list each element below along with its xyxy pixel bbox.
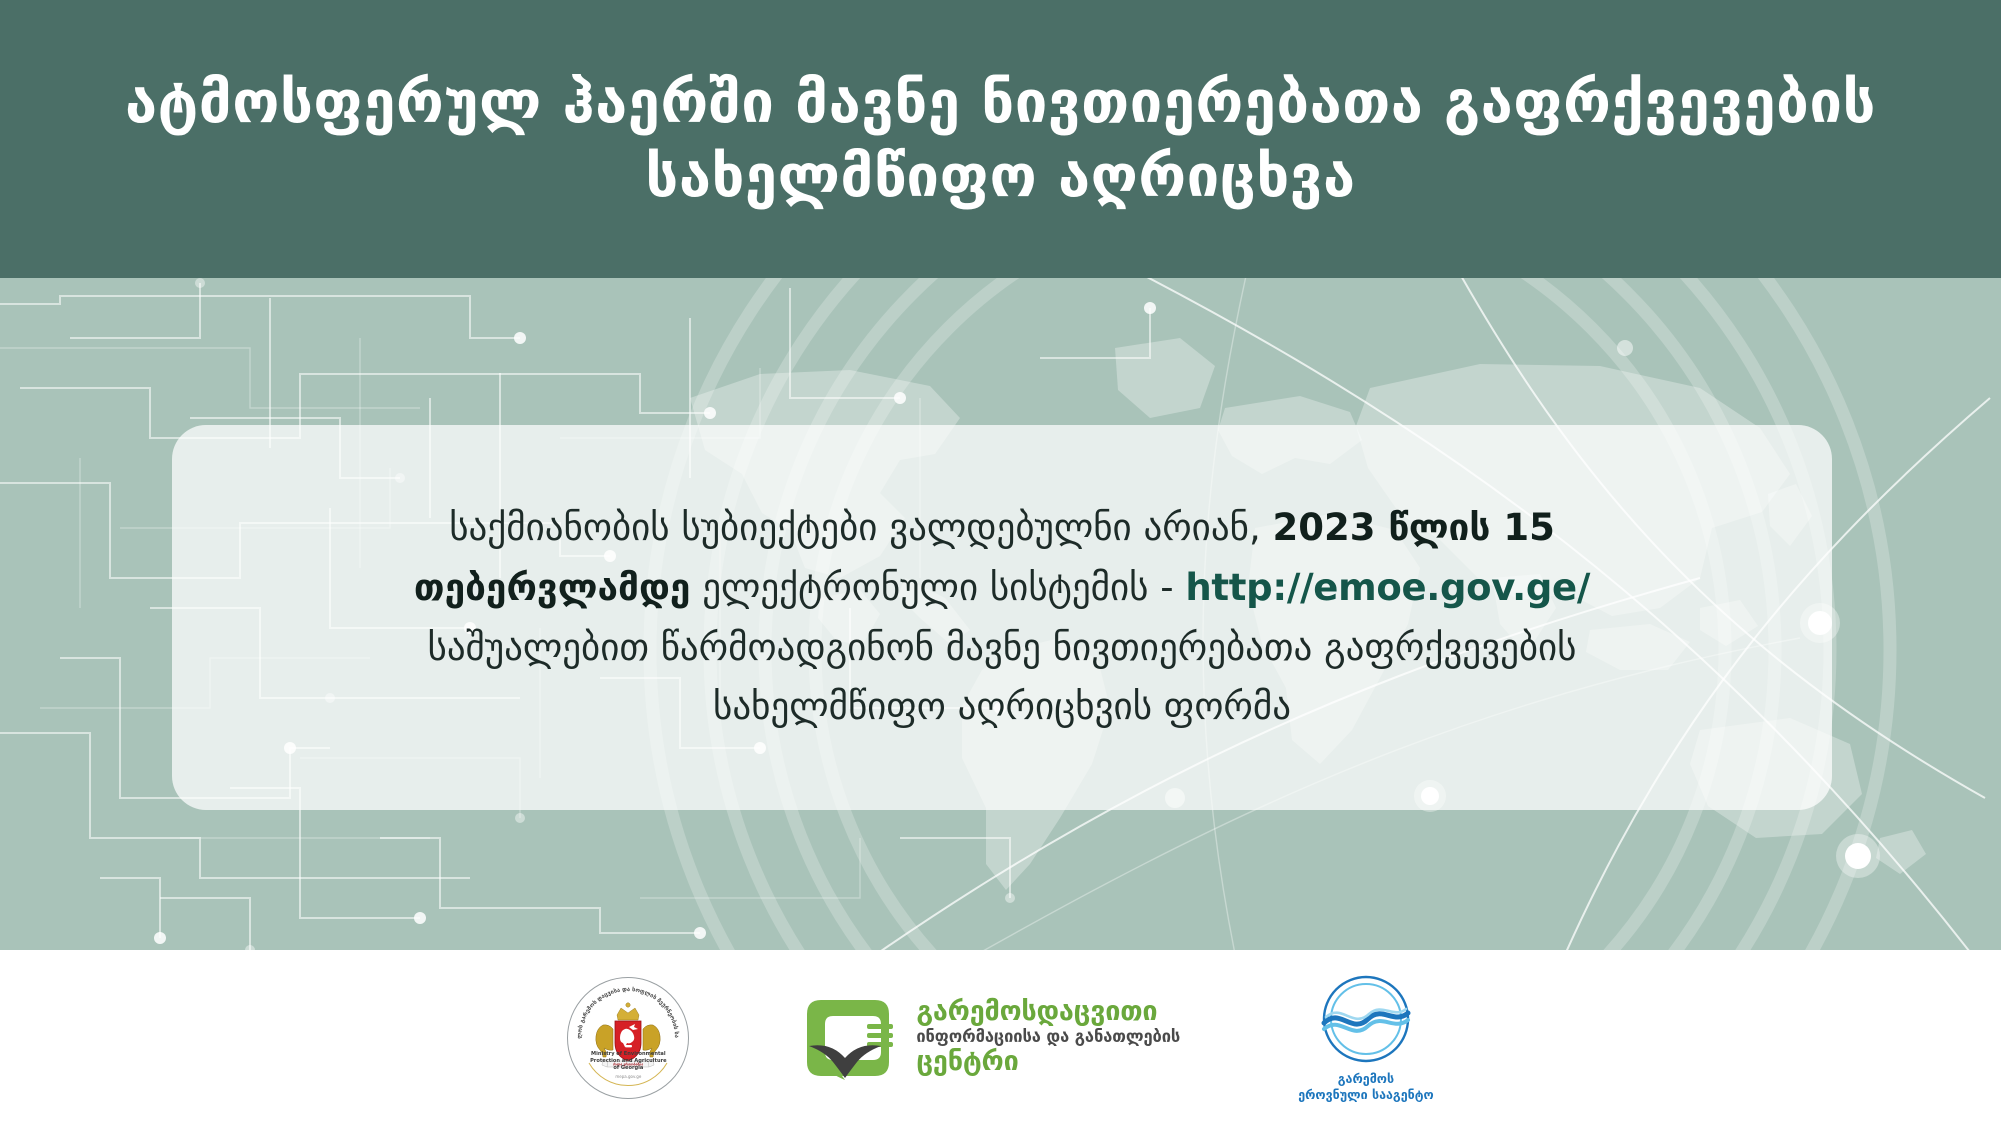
announcement-line-3: საშუალებით წარმოადგინონ მავნე ნივთიერება… bbox=[262, 618, 1742, 678]
logo-national-environmental-agency: გარემოს ეროვნული სააგენტო bbox=[1298, 973, 1433, 1102]
logo-environmental-information-education-center: გარემოსდაცვითი ინფორმაციისა და განათლები… bbox=[807, 990, 1180, 1086]
announcement-card: საქმიანობის სუბიექტები ვალდებულნი არიან,… bbox=[172, 425, 1832, 810]
nea-line-1: გარემოს bbox=[1298, 1071, 1433, 1087]
nea-wordmark: გარემოს ეროვნული სააგენტო bbox=[1298, 1071, 1433, 1102]
seal-url-text: mepa.gov.ge bbox=[567, 1074, 689, 1079]
announcement-deadline-bold: თებერვლამდე bbox=[414, 566, 691, 609]
eiec-line-3: ცენტრი bbox=[916, 1047, 1180, 1078]
announcement-line-4: სახელმწიფო აღრიცხვის ფორმა bbox=[262, 677, 1742, 737]
eiec-line-1: გარემოსდაცვითი bbox=[916, 997, 1180, 1028]
eiec-book-icon bbox=[807, 990, 903, 1086]
announcement-text: საქმიანობის სუბიექტები ვალდებულნი არიან,… bbox=[172, 498, 1832, 738]
banner-root: ატმოსფერულ ჰაერში მავნე ნივთიერებათა გაფ… bbox=[0, 0, 2001, 1125]
nea-line-2: ეროვნული სააგენტო bbox=[1298, 1087, 1433, 1103]
seal-english-text: Ministry of Environmental Protection and… bbox=[567, 1051, 689, 1073]
eiec-line-2: ინფორმაციისა და განათლების bbox=[916, 1028, 1180, 1047]
announcement-line-1: საქმიანობის სუბიექტები ვალდებულნი არიან,… bbox=[262, 498, 1742, 558]
seal-en-line-3: of Georgia bbox=[567, 1065, 689, 1072]
ministry-seal-icon: საქართველოს გარემოს დაცვისა და სოფლის მე… bbox=[567, 977, 689, 1099]
announcement-line-2-normal: ელექტრონული სისტემის - bbox=[690, 566, 1185, 609]
seal-en-line-2: Protection and Agriculture bbox=[567, 1058, 689, 1065]
emoe-portal-link[interactable]: http://emoe.gov.ge/ bbox=[1185, 566, 1590, 609]
announcement-line-1-normal: საქმიანობის სუბიექტები ვალდებულნი არიან, bbox=[449, 506, 1272, 549]
announcement-line-2: თებერვლამდე ელექტრონული სისტემის - http:… bbox=[262, 558, 1742, 618]
logo-ministry-of-environmental-protection: საქართველოს გარემოს დაცვისა და სოფლის მე… bbox=[567, 977, 689, 1099]
page-title-line-1: ატმოსფერულ ჰაერში მავნე ნივთიერებათა გაფ… bbox=[125, 68, 1876, 136]
seal-en-line-1: Ministry of Environmental bbox=[567, 1051, 689, 1058]
announcement-line-1-bold: 2023 წლის 15 bbox=[1272, 506, 1554, 549]
eiec-wordmark: გარემოსდაცვითი ინფორმაციისა და განათლები… bbox=[916, 997, 1180, 1077]
page-title-line-2: სახელმწიფო აღრიცხვა bbox=[645, 142, 1355, 210]
nea-wave-circle-icon bbox=[1320, 973, 1412, 1065]
seal-artwork: საქართველოს გარემოს დაცვისა და სოფლის მე… bbox=[567, 977, 689, 1099]
footer-logo-bar: საქართველოს გარემოს დაცვისა და სოფლის მე… bbox=[0, 950, 2001, 1125]
header-band: ატმოსფერულ ჰაერში მავნე ნივთიერებათა გაფ… bbox=[0, 0, 2001, 278]
